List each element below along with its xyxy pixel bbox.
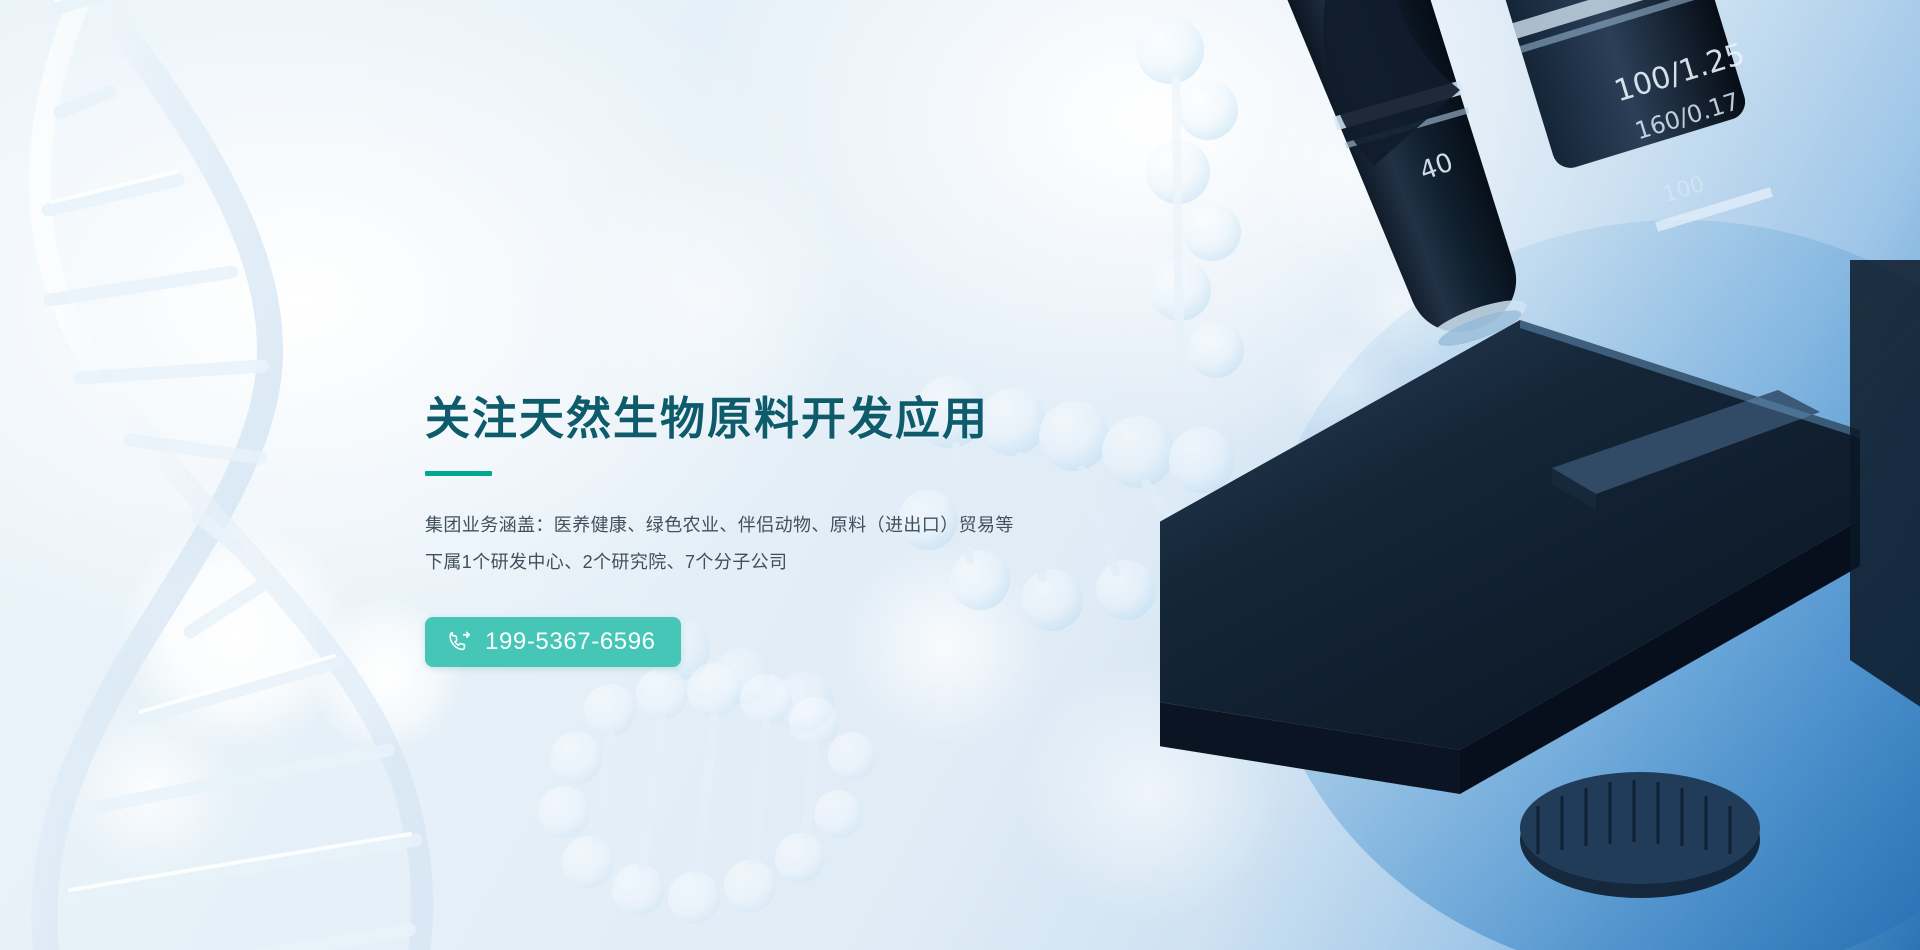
svg-text:40: 40 [1416, 147, 1457, 187]
phone-number-label: 199-5367-6596 [485, 630, 656, 654]
hero-banner: 100/1.25 160/0.17 100 40 [0, 0, 1920, 950]
microscope-icon: 100/1.25 160/0.17 100 40 [1160, 0, 1920, 950]
title-accent-rule [425, 471, 492, 476]
phone-cta-button[interactable]: 199-5367-6596 [425, 617, 681, 667]
bokeh-light-icon [120, 520, 350, 750]
svg-text:160/0.17: 160/0.17 [1632, 87, 1743, 145]
bokeh-light-icon [1250, 60, 1470, 280]
bokeh-light-icon [60, 700, 240, 880]
phone-forwarded-icon [447, 629, 472, 654]
description-line-2: 下属1个研发中心、2个研究院、7个分子公司 [425, 544, 1125, 581]
bokeh-light-icon [1290, 330, 1400, 440]
svg-text:100: 100 [1660, 172, 1707, 208]
svg-text:100/1.25: 100/1.25 [1610, 37, 1749, 110]
description-line-1: 集团业务涵盖：医养健康、绿色农业、伴侣动物、原料（进出口）贸易等 [425, 507, 1125, 544]
hero-description: 集团业务涵盖：医养健康、绿色农业、伴侣动物、原料（进出口）贸易等 下属1个研发中… [425, 507, 1125, 582]
page-title: 关注天然生物原料开发应用 [425, 392, 1125, 445]
bokeh-light-icon [1020, 660, 1280, 920]
hero-content: 关注天然生物原料开发应用 集团业务涵盖：医养健康、绿色农业、伴侣动物、原料（进出… [425, 392, 1125, 667]
bokeh-light-icon [1340, 240, 1470, 370]
